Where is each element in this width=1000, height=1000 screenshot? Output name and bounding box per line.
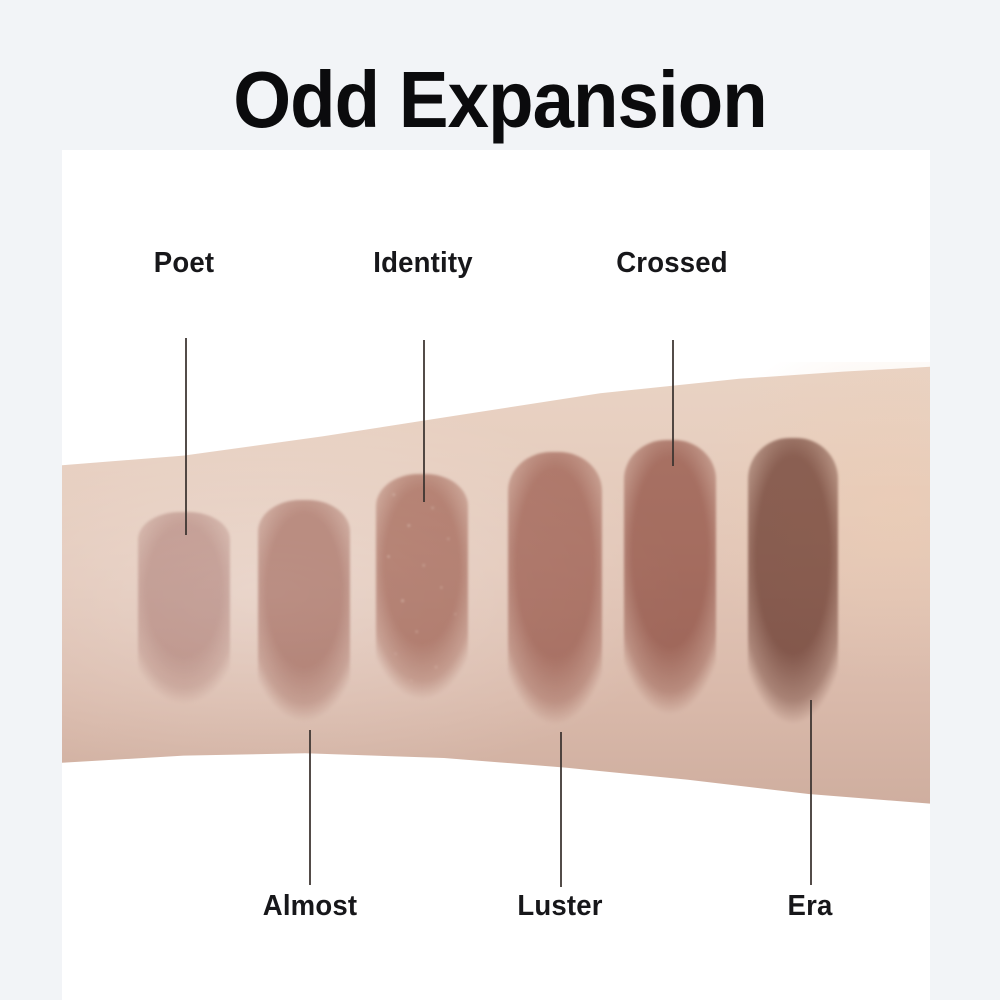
leader-line-luster: [560, 732, 562, 887]
leader-line-era: [810, 700, 812, 885]
swatch-crossed: [624, 440, 716, 720]
swatch-label-identity: Identity: [373, 247, 472, 280]
swatch-almost: [258, 500, 350, 726]
swatch-poet: [138, 512, 230, 708]
leader-line-crossed: [672, 340, 674, 466]
swatch-infographic: Odd Expansion PoetAlmostIdentityLusterCr…: [0, 0, 1000, 1000]
leader-line-poet: [185, 338, 187, 535]
leader-line-almost: [309, 730, 311, 885]
swatch-luster: [508, 452, 602, 730]
swatch-identity: [376, 474, 468, 704]
leader-line-identity: [423, 340, 425, 502]
swatch-label-crossed: Crossed: [616, 247, 728, 280]
swatch-label-era: Era: [788, 890, 833, 923]
swatch-label-almost: Almost: [263, 890, 358, 923]
swatch-label-poet: Poet: [154, 247, 214, 280]
page-title: Odd Expansion: [35, 58, 965, 142]
swatch-era: [748, 438, 838, 730]
swatch-label-luster: Luster: [517, 890, 602, 923]
